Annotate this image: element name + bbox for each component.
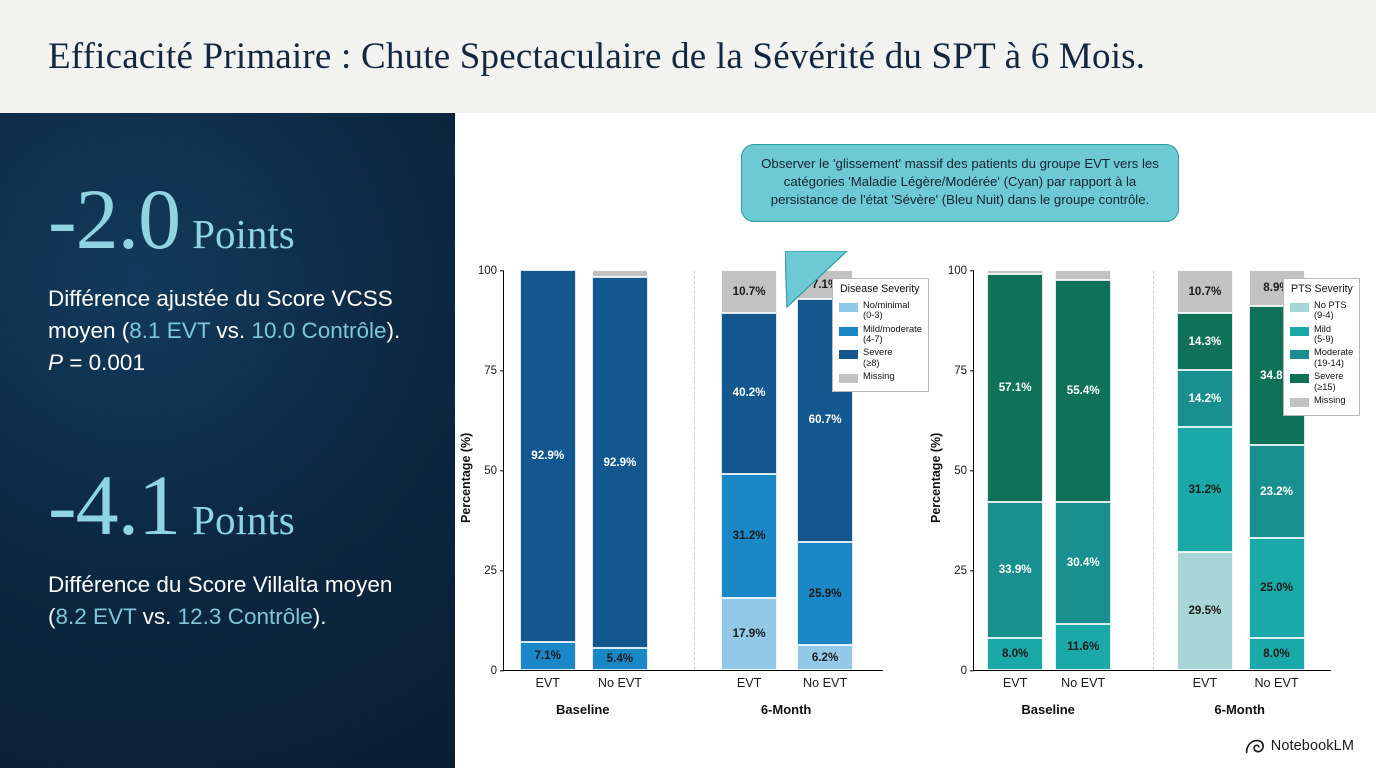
legend-item-label: Severe(≥8)	[863, 347, 892, 368]
stat-desc-pvalue-symbol-vcss: P	[48, 350, 63, 375]
x-axis-tick: EVT	[721, 676, 777, 690]
bar-segment[interactable]: 29.5%	[1177, 552, 1233, 670]
stat-desc-hl1-villalta: 8.2 EVT	[56, 604, 137, 629]
bar-segment-label: 25.9%	[809, 588, 842, 600]
legend-item-label: Moderate(19-14)	[1314, 347, 1353, 368]
stat-headline-villalta: -4.1 Points	[48, 465, 408, 547]
group-label: Baseline	[988, 702, 1108, 717]
legend-item[interactable]: Mild/moderate(4-7)	[839, 324, 922, 345]
bar-segment-label: 10.7%	[1188, 286, 1221, 298]
stat-desc-hl2-villalta: 12.3 Contrôle	[178, 604, 313, 629]
bar-segment-label: 10.7%	[733, 286, 766, 298]
stacked-bar[interactable]: 7.1%92.9%EVT	[520, 270, 576, 670]
bar-segment[interactable]: 92.9%	[520, 270, 576, 642]
bar-segment[interactable]: 31.2%	[721, 474, 777, 599]
bar-segment-label: 55.4%	[1067, 385, 1100, 397]
key-stats-sidebar: -2.0 Points Différence ajustée du Score …	[0, 113, 455, 768]
page-title: Efficacité Primaire : Chute Spectaculair…	[48, 35, 1145, 78]
legend-swatch	[1290, 350, 1309, 359]
legend-item-label: Mild/moderate(4-7)	[863, 324, 922, 345]
bar-segment-label: 57.1%	[999, 382, 1032, 394]
bar-segment[interactable]: 57.1%	[987, 274, 1043, 502]
legend-swatch	[839, 327, 858, 336]
bar-segment-label: 31.2%	[733, 530, 766, 542]
title-bar: Efficacité Primaire : Chute Spectaculair…	[0, 0, 1376, 113]
bar-segment[interactable]: 92.9%	[592, 277, 648, 649]
legend-item-label: Missing	[863, 371, 895, 381]
bar-segment-label: 23.2%	[1260, 486, 1293, 498]
bar-segment[interactable]: 25.9%	[797, 542, 853, 646]
stat-desc-hl2-vcss: 10.0 Contrôle	[251, 318, 386, 343]
bar-segment[interactable]	[1055, 270, 1111, 280]
legend-swatch	[1290, 398, 1309, 407]
notebooklm-icon	[1245, 739, 1264, 754]
legend-swatch	[1290, 327, 1309, 336]
callout-tail-icon	[785, 251, 855, 311]
bar-segment[interactable]: 40.2%	[721, 313, 777, 474]
stat-desc-post-vcss: ).	[387, 318, 401, 343]
stacked-bar[interactable]: 8.0%33.9%57.1%EVT	[987, 270, 1043, 670]
bar-segment[interactable]: 25.0%	[1249, 538, 1305, 638]
legend-item[interactable]: Missing	[1290, 395, 1353, 407]
bar-segment-label: 60.7%	[809, 414, 842, 426]
bar-segment[interactable]: 55.4%	[1055, 280, 1111, 502]
x-axis-tick: No EVT	[1249, 676, 1305, 690]
slide-root: Efficacité Primaire : Chute Spectaculair…	[0, 0, 1376, 768]
bar-segment-label: 31.2%	[1188, 484, 1221, 496]
bar-segment[interactable]: 17.9%	[721, 598, 777, 670]
bar-segment[interactable]	[592, 270, 648, 277]
legend-swatch	[839, 350, 858, 359]
stat-block-villalta: -4.1 Points Différence du Score Villalta…	[48, 465, 408, 633]
legend-item[interactable]: No PTS(9-4)	[1290, 300, 1353, 321]
bar-segment[interactable]: 33.9%	[987, 502, 1043, 638]
legend-item-label: Severe(≥15)	[1314, 371, 1343, 392]
bar-segment[interactable]: 7.1%	[520, 642, 576, 670]
y-axis-tick: 0	[491, 665, 504, 677]
bar-segment-label: 30.4%	[1067, 557, 1100, 569]
bar-segment[interactable]: 14.3%	[1177, 313, 1233, 370]
bar-segment-label: 7.1%	[534, 650, 560, 662]
charts-area: Percentage (%)10075502507.1%92.9%EVT5.4%…	[455, 113, 1376, 768]
y-axis-tick: 0	[961, 665, 974, 677]
bar-segment-label: 8.0%	[1263, 648, 1289, 660]
y-axis-tick: 25	[484, 565, 504, 577]
group-label: Baseline	[523, 702, 643, 717]
y-axis-tick: 75	[954, 365, 974, 377]
bar-segment[interactable]: 30.4%	[1055, 502, 1111, 624]
bar-segment-label: 29.5%	[1188, 605, 1221, 617]
group-label: 6-Month	[726, 702, 846, 717]
bar-segment[interactable]: 23.2%	[1249, 445, 1305, 538]
bar-segment[interactable]	[987, 270, 1043, 274]
bar-segment[interactable]: 10.7%	[1177, 270, 1233, 313]
legend-swatch	[1290, 374, 1309, 383]
insight-callout-text: Observer le 'glissement' massif des pati…	[761, 156, 1159, 207]
legend-item-label: No PTS(9-4)	[1314, 300, 1347, 321]
bar-segment[interactable]: 10.7%	[721, 270, 777, 313]
legend-item[interactable]: Severe(≥15)	[1290, 371, 1353, 392]
legend-item[interactable]: Severe(≥8)	[839, 347, 922, 368]
plot-area: 10075502507.1%92.9%EVT5.4%92.9%No EVT17.…	[503, 271, 883, 671]
y-axis-tick: 100	[478, 265, 504, 277]
stat-description-vcss: Différence ajustée du Score VCSS moyen (…	[48, 283, 408, 379]
x-axis-tick: EVT	[520, 676, 576, 690]
bar-segment[interactable]: 6.2%	[797, 645, 853, 670]
legend-swatch	[839, 374, 858, 383]
bar-segment-label: 14.3%	[1188, 336, 1221, 348]
stat-unit-vcss: Points	[192, 215, 295, 254]
y-axis-title: Percentage (%)	[459, 433, 473, 523]
y-axis-tick: 100	[948, 265, 974, 277]
legend-item-label: Mild(5-9)	[1314, 324, 1334, 345]
x-axis-tick: No EVT	[797, 676, 853, 690]
stat-desc-mid-villalta: vs.	[136, 604, 177, 629]
stacked-bar[interactable]: 29.5%31.2%14.2%14.3%10.7%EVT	[1177, 270, 1233, 670]
legend-item[interactable]: Mild(5-9)	[1290, 324, 1353, 345]
chart-legend: PTS SeverityNo PTS(9-4)Mild(5-9)Moderate…	[1283, 278, 1360, 416]
stacked-bar[interactable]: 11.6%30.4%55.4%No EVT	[1055, 270, 1111, 670]
stat-value-villalta: -4.1	[48, 465, 180, 547]
plot-area: 10075502508.0%33.9%57.1%EVT11.6%30.4%55.…	[973, 271, 1331, 671]
legend-title: PTS Severity	[1290, 284, 1353, 296]
stat-block-vcss: -2.0 Points Différence ajustée du Score …	[48, 179, 408, 379]
bar-segment[interactable]: 31.2%	[1177, 427, 1233, 552]
stat-desc-mid-vcss: vs.	[210, 318, 251, 343]
bar-segment[interactable]: 5.4%	[592, 648, 648, 670]
stat-value-vcss: -2.0	[48, 179, 180, 261]
legend-item-label: Missing	[1314, 395, 1346, 405]
bar-segment-label: 17.9%	[733, 628, 766, 640]
stacked-bar[interactable]: 17.9%31.2%40.2%10.7%EVT	[721, 270, 777, 670]
bar-segment-label: 6.2%	[812, 652, 838, 664]
legend-item[interactable]: Missing	[839, 371, 922, 383]
insight-callout: Observer le 'glissement' massif des pati…	[741, 144, 1179, 222]
stat-headline-vcss: -2.0 Points	[48, 179, 408, 261]
y-axis-tick: 50	[484, 465, 504, 477]
bar-segment[interactable]: 8.0%	[1249, 638, 1305, 670]
y-axis-tick: 75	[484, 365, 504, 377]
y-axis-title: Percentage (%)	[929, 433, 943, 523]
bar-segment-label: 92.9%	[603, 457, 636, 469]
legend-item[interactable]: Moderate(19-14)	[1290, 347, 1353, 368]
bar-segment-label: 25.0%	[1260, 582, 1293, 594]
stat-description-villalta: Différence du Score Villalta moyen (8.2 …	[48, 569, 408, 633]
bar-segment[interactable]: 14.2%	[1177, 370, 1233, 427]
bar-segment[interactable]: 8.0%	[987, 638, 1043, 670]
stat-desc-hl1-vcss: 8.1 EVT	[129, 318, 210, 343]
brand-label: NotebookLM	[1271, 738, 1354, 754]
bar-segment-label: 11.6%	[1067, 641, 1099, 653]
bar-segment-label: 33.9%	[999, 564, 1032, 576]
bar-segment-label: 8.0%	[1002, 648, 1028, 660]
legend-item-label: No/minimal(0-3)	[863, 300, 910, 321]
bar-segment[interactable]: 11.6%	[1055, 624, 1111, 670]
y-axis-tick: 25	[954, 565, 974, 577]
bar-segment-label: 14.2%	[1188, 393, 1221, 405]
stat-unit-villalta: Points	[192, 501, 295, 540]
bar-segment-label: 40.2%	[733, 387, 766, 399]
brand-notebooklm: NotebookLM	[1245, 738, 1354, 754]
group-separator	[1153, 271, 1154, 670]
group-separator	[694, 271, 695, 670]
x-axis-tick: EVT	[987, 676, 1043, 690]
bar-segment-label: 92.9%	[531, 450, 564, 462]
y-axis-tick: 50	[954, 465, 974, 477]
stacked-bar[interactable]: 5.4%92.9%No EVT	[592, 270, 648, 670]
x-axis-tick: No EVT	[592, 676, 648, 690]
stat-desc-tail-vcss: = 0.001	[63, 350, 145, 375]
x-axis-tick: No EVT	[1055, 676, 1111, 690]
bar-segment-label: 5.4%	[607, 653, 633, 665]
stat-desc-post-villalta: ).	[313, 604, 327, 629]
legend-swatch	[1290, 303, 1309, 312]
group-label: 6-Month	[1180, 702, 1300, 717]
x-axis-tick: EVT	[1177, 676, 1233, 690]
